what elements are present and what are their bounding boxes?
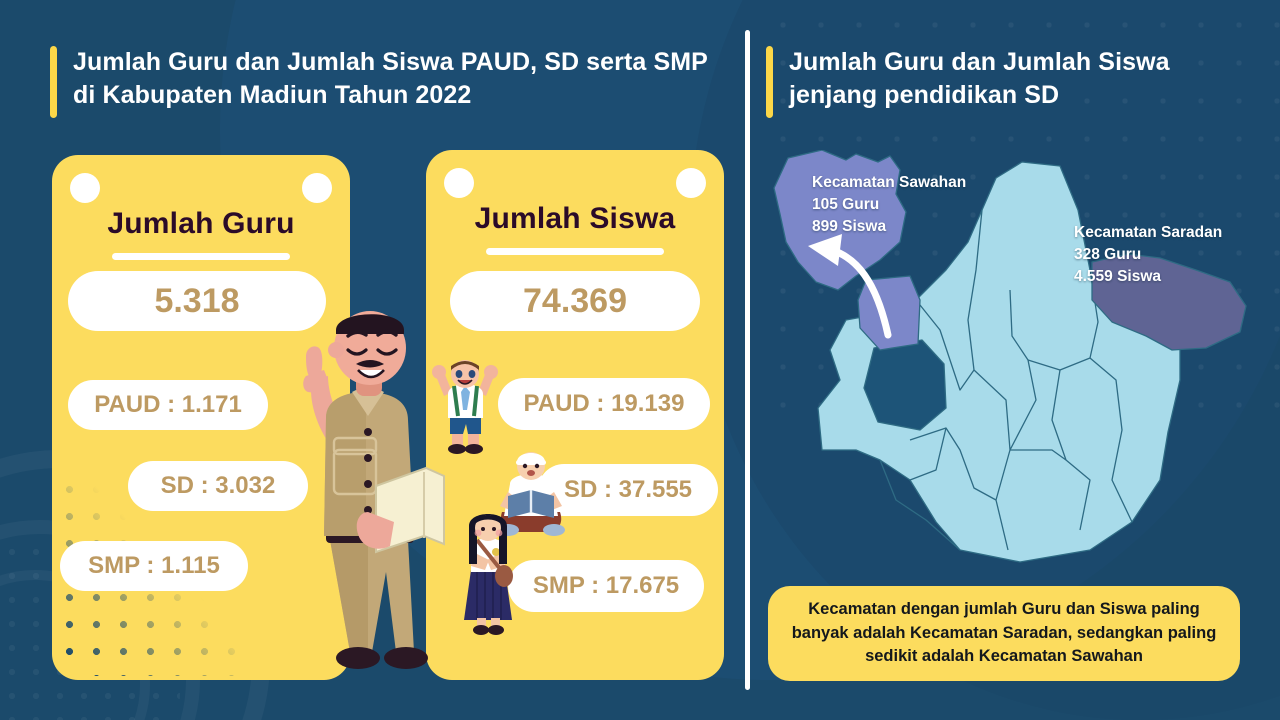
left-panel-title-text: Jumlah Guru dan Jumlah Siswa PAUD, SD se… [73, 46, 730, 113]
punch-hole-icon [70, 173, 100, 203]
card-guru-underline [112, 253, 290, 260]
panel-divider [745, 30, 750, 690]
map-label-sawahan-siswa: 899 Siswa [812, 216, 966, 238]
student-girl-illustration [455, 508, 521, 636]
right-panel-title: Jumlah Guru dan Jumlah Siswa jenjang pen… [766, 46, 1246, 118]
punch-hole-icon [676, 168, 706, 198]
map-label-sawahan-name: Kecamatan Sawahan [812, 172, 966, 194]
title-accent-bar [766, 46, 773, 118]
punch-hole-icon [302, 173, 332, 203]
student-boy-illustration [430, 358, 500, 456]
guru-smp-value: SMP : 1.115 [60, 541, 248, 591]
map-label-saradan-siswa: 4.559 Siswa [1074, 266, 1222, 288]
card-siswa-title: Jumlah Siswa [426, 202, 724, 236]
siswa-paud-value: PAUD : 19.139 [498, 378, 710, 430]
infographic-canvas: Jumlah Guru dan Jumlah Siswa PAUD, SD se… [0, 0, 1280, 720]
siswa-total-value: 74.369 [450, 271, 700, 331]
card-siswa-underline [486, 248, 664, 255]
map-label-saradan: Kecamatan Saradan 328 Guru 4.559 Siswa [1074, 222, 1222, 288]
guru-paud-value: PAUD : 1.171 [68, 380, 268, 430]
siswa-smp-value: SMP : 17.675 [508, 560, 704, 612]
map-label-sawahan-guru: 105 Guru [812, 194, 966, 216]
left-panel-title: Jumlah Guru dan Jumlah Siswa PAUD, SD se… [50, 46, 730, 118]
punch-hole-icon [444, 168, 474, 198]
card-guru-title: Jumlah Guru [52, 207, 350, 241]
title-accent-bar [50, 46, 57, 118]
right-panel-title-text: Jumlah Guru dan Jumlah Siswa jenjang pen… [789, 46, 1246, 113]
map-label-sawahan: Kecamatan Sawahan 105 Guru 899 Siswa [812, 172, 966, 238]
map-district-shadowed [864, 340, 946, 430]
summary-note: Kecamatan dengan jumlah Guru dan Siswa p… [768, 586, 1240, 681]
map-label-saradan-guru: 328 Guru [1074, 244, 1222, 266]
map-label-saradan-name: Kecamatan Saradan [1074, 222, 1222, 244]
